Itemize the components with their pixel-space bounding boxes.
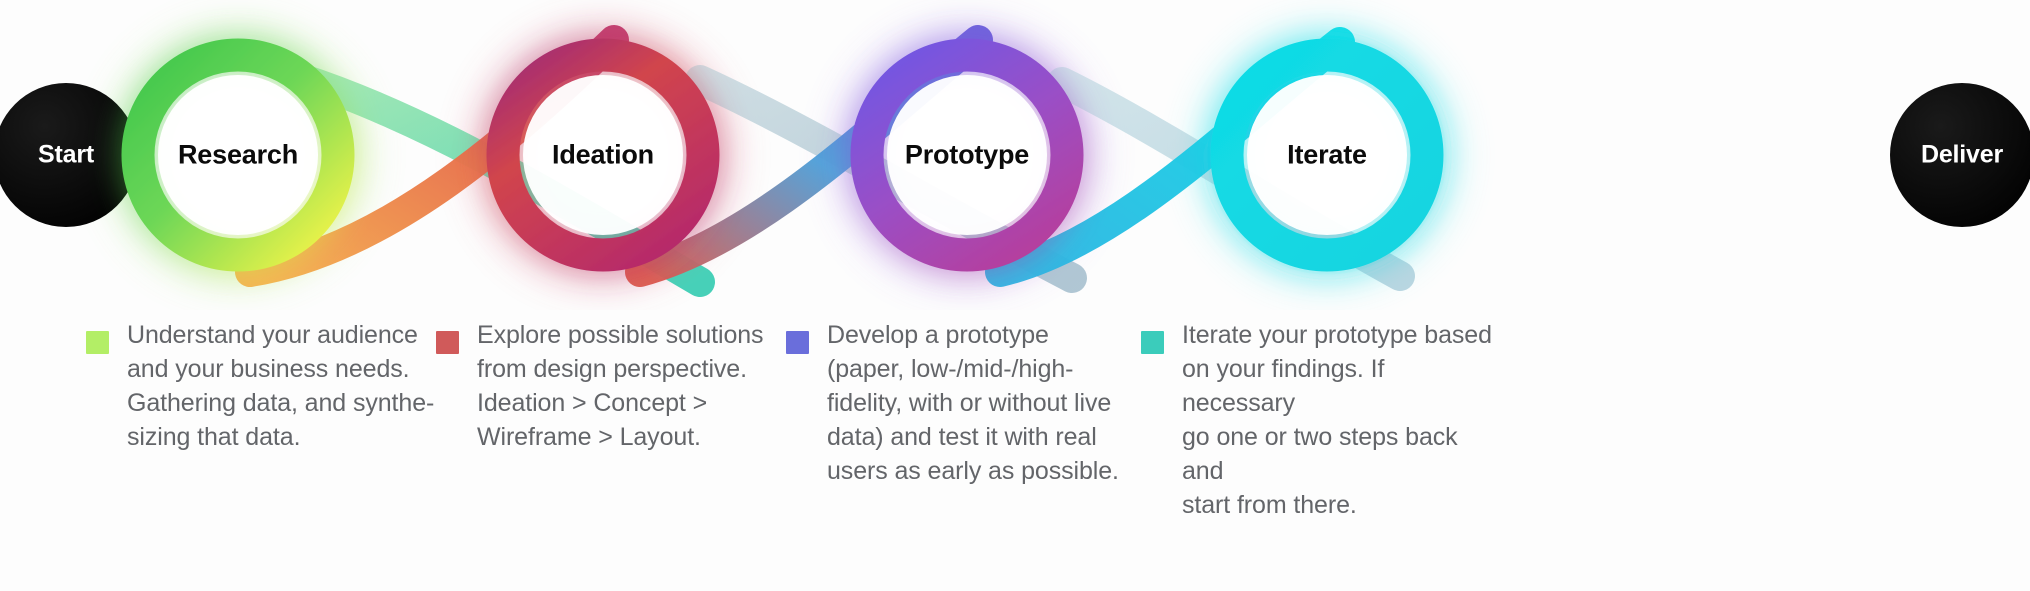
legend-line: (paper, low-/mid-/high- <box>827 352 1119 386</box>
flow-svg <box>0 0 2030 310</box>
legend-line: Wireframe > Layout. <box>477 420 763 454</box>
legend-line: users as early as possible. <box>827 454 1119 488</box>
design-process-infographic: Start Deliver Research Ideation Prototyp… <box>0 0 2030 591</box>
legend-text-iterate: Iterate your prototype based on your fin… <box>1182 318 1501 522</box>
legend-item-prototype: Develop a prototype (paper, low-/mid-/hi… <box>786 318 1141 591</box>
legend-line: Gathering data, and synthe- <box>127 386 434 420</box>
legend-swatch-research-icon <box>86 331 109 354</box>
node-start-circle[interactable] <box>0 83 138 227</box>
legend-line: data) and test it with real <box>827 420 1119 454</box>
legend-item-ideation: Explore possible solutions from design p… <box>436 318 786 591</box>
legend: Understand your audience and your busine… <box>0 318 2030 591</box>
legend-swatch-prototype-icon <box>786 331 809 354</box>
legend-text-research: Understand your audience and your busine… <box>127 318 434 454</box>
legend-line: Ideation > Concept > <box>477 386 763 420</box>
legend-swatch-ideation-icon <box>436 331 459 354</box>
legend-item-iterate: Iterate your prototype based on your fin… <box>1141 318 1501 591</box>
legend-line: on your findings. If necessary <box>1182 352 1501 420</box>
legend-line: go one or two steps back and <box>1182 420 1501 488</box>
legend-swatch-iterate-icon <box>1141 331 1164 354</box>
legend-line: Explore possible solutions <box>477 318 763 352</box>
legend-line: and your business needs. <box>127 352 434 386</box>
legend-line: Develop a prototype <box>827 318 1119 352</box>
legend-line: Understand your audience <box>127 318 434 352</box>
legend-line: sizing that data. <box>127 420 434 454</box>
legend-line: Iterate your prototype based <box>1182 318 1501 352</box>
legend-line: from design perspective. <box>477 352 763 386</box>
node-deliver-circle[interactable] <box>1890 83 2030 227</box>
legend-line: fidelity, with or without live <box>827 386 1119 420</box>
legend-item-research: Understand your audience and your busine… <box>86 318 436 591</box>
process-flow-diagram: Start Deliver Research Ideation Prototyp… <box>0 0 2030 310</box>
legend-line: start from there. <box>1182 488 1501 522</box>
legend-text-ideation: Explore possible solutions from design p… <box>477 318 763 454</box>
legend-text-prototype: Develop a prototype (paper, low-/mid-/hi… <box>827 318 1119 488</box>
